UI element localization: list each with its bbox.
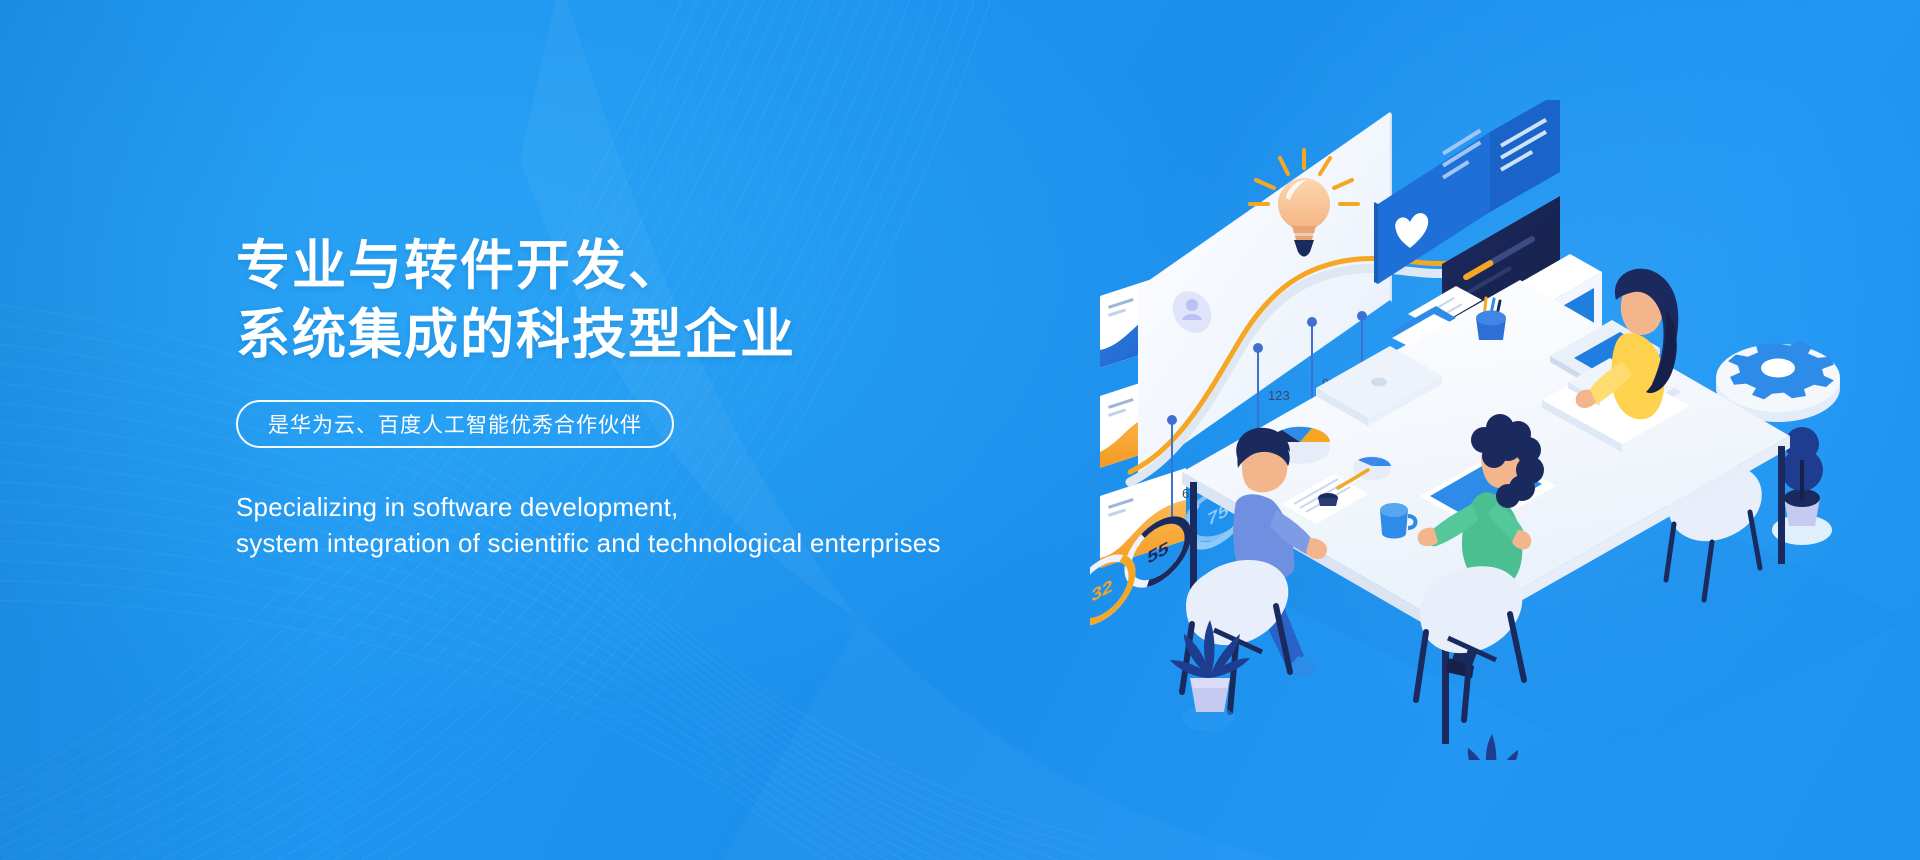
svg-text:32: 32 bbox=[1091, 576, 1112, 607]
subtitle-line-2: system integration of scientific and tec… bbox=[236, 526, 1116, 561]
hero-banner: 专业与转件开发、 系统集成的科技型企业 是华为云、百度人工智能优秀合作伙伴 Sp… bbox=[0, 0, 1920, 860]
hero-copy: 专业与转件开发、 系统集成的科技型企业 是华为云、百度人工智能优秀合作伙伴 Sp… bbox=[236, 232, 1116, 561]
partner-badge[interactable]: 是华为云、百度人工智能优秀合作伙伴 bbox=[236, 400, 674, 448]
svg-text:123: 123 bbox=[1268, 388, 1290, 403]
potted-plant-2 bbox=[1454, 734, 1518, 760]
headline-line-1: 专业与转件开发、 bbox=[236, 232, 1116, 301]
hero-illustration: 65 123 97 81 bbox=[1090, 100, 1910, 760]
inkwell bbox=[1318, 493, 1338, 506]
text-lines-panel bbox=[1490, 100, 1560, 212]
subtitle-line-1: Specializing in software development, bbox=[236, 490, 1116, 525]
headline-line-2: 系统集成的科技型企业 bbox=[236, 301, 1116, 370]
page-title: 专业与转件开发、 系统集成的科技型企业 bbox=[236, 232, 1116, 370]
hero-subtitle: Specializing in software development, sy… bbox=[236, 490, 1116, 561]
